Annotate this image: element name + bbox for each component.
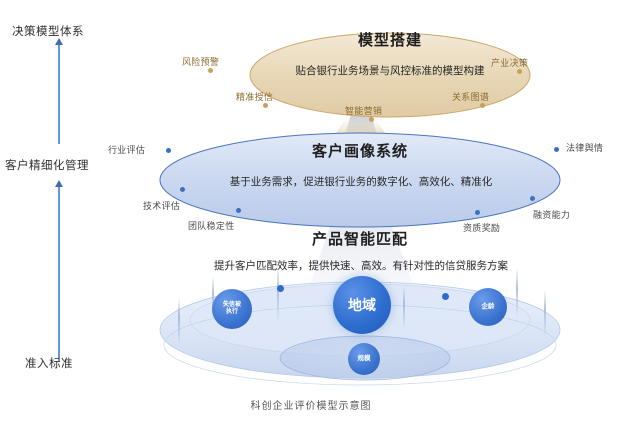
bubble-dishonest-executed[interactable]: 失信被执行 [212,289,252,329]
node-dot-risk-warning [208,68,213,73]
light-bar-5 [516,268,518,318]
diagram-canvas: 决策模型体系 客户精细化管理 准入标准 模型搭建 贴合银行业务场景与风控标准的模… [0,0,622,421]
node-label-risk-warning: 风险预警 [182,55,219,68]
tier3-title: 产品智能匹配 [255,228,465,249]
bubble-label-company-age: 企龄 [482,303,495,310]
axis-arrow-lower [58,186,60,361]
accent-dot-left [277,285,284,292]
node-dot-team-stability [236,208,241,213]
node-dot-industry-decision [517,69,522,74]
axis-arrow-upper [58,44,60,144]
node-label-industry-decision: 产业决策 [491,56,528,69]
node-dot-industry-assess [166,148,171,153]
axis-label-decision: 决策模型体系 [12,23,84,39]
node-dot-tech-assess [180,187,185,192]
light-bar-6 [544,290,546,336]
accent-dot-right [442,293,449,300]
node-label-legal-sentiment: 法律舆情 [566,141,603,154]
node-dot-smart-marketing [369,117,374,122]
bubble-company-age[interactable]: 企龄 [469,288,507,326]
light-bar-4 [403,286,405,330]
node-label-smart-marketing: 智能营销 [345,104,382,117]
node-dot-relation-graph [480,103,485,108]
bubble-label-dishonest-executed: 失信被执行 [221,302,243,316]
tier3-subtitle: 提升客户匹配效率，提供快速、高效。有针对性的信贷服务方案 [166,258,556,273]
node-label-financing-ability: 融资能力 [533,208,570,221]
node-label-precise-credit: 精准授信 [236,90,273,103]
light-bar-3 [277,266,279,322]
tier1-title: 模型搭建 [290,29,490,50]
light-bar-1 [178,298,180,346]
tier2-subtitle: 基于业务需求，促进银行业务的数字化、高效化、精准化 [211,174,511,189]
bubble-region[interactable]: 地域 [333,276,391,334]
figure-caption: 科创企业评价模型示意图 [0,397,622,412]
node-label-team-stability: 团队稳定性 [188,219,235,232]
axis-label-customer: 客户精细化管理 [5,157,89,173]
node-dot-financing-ability [530,196,535,201]
node-label-relation-graph: 关系图谱 [452,90,489,103]
node-dot-legal-sentiment [554,147,559,152]
tier1-subtitle: 贴合银行业务场景与风控标准的模型构建 [265,63,515,78]
node-dot-precise-credit [263,103,268,108]
bubble-label-scale: 规模 [358,355,371,362]
bubble-label-region: 地域 [348,297,376,313]
node-label-qualification-award: 资质奖励 [463,221,500,234]
node-dot-qualification-award [475,210,480,215]
axis-label-admission: 准入标准 [25,355,73,371]
node-label-tech-assess: 技术评估 [143,199,180,212]
tier2-title: 客户画像系统 [260,140,460,161]
bubble-scale[interactable]: 规模 [348,343,380,375]
node-label-industry-assess: 行业评估 [108,143,145,156]
